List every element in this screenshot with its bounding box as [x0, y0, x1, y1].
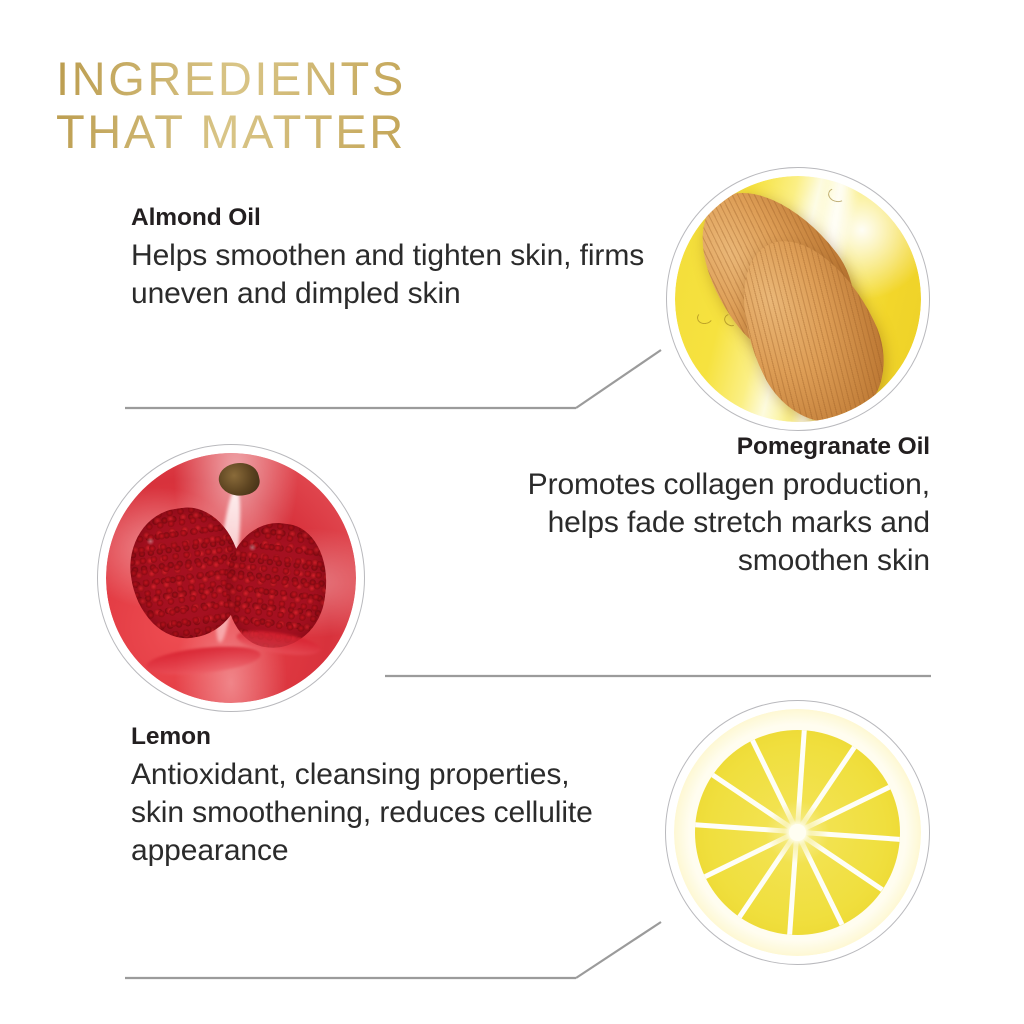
ingredient-image-pomegranate-oil: [97, 444, 365, 712]
ingredient-name-lemon: Lemon: [131, 722, 601, 752]
ingredient-description-almond-oil: Helps smoothen and tighten skin, firms u…: [131, 237, 651, 313]
lemon-flesh: [695, 730, 900, 935]
lemon-slice-photo: [674, 709, 921, 956]
lemon-core: [789, 824, 805, 840]
ingredient-description-lemon: Antioxidant, cleansing properties, skin …: [131, 756, 601, 870]
ingredient-block-pomegranate-oil: Pomegranate Oil Promotes collagen produc…: [460, 432, 930, 580]
page-title: INGREDIENTS THAT MATTER: [56, 52, 696, 158]
ingredient-block-almond-oil: Almond Oil Helps smoothen and tighten sk…: [131, 203, 651, 313]
ingredient-image-almond-oil: [666, 167, 930, 431]
ingredients-infographic: INGREDIENTS THAT MATTER Almond Oil Helps…: [0, 0, 1024, 1024]
almond-oil-photo: [675, 176, 921, 422]
ingredient-image-lemon: [665, 700, 930, 965]
ingredient-name-pomegranate-oil: Pomegranate Oil: [460, 432, 930, 462]
ingredient-description-pomegranate-oil: Promotes collagen production, helps fade…: [460, 466, 930, 580]
pomegranate-photo: [106, 453, 356, 703]
ingredient-block-lemon: Lemon Antioxidant, cleansing properties,…: [131, 722, 601, 870]
ingredient-name-almond-oil: Almond Oil: [131, 203, 651, 233]
